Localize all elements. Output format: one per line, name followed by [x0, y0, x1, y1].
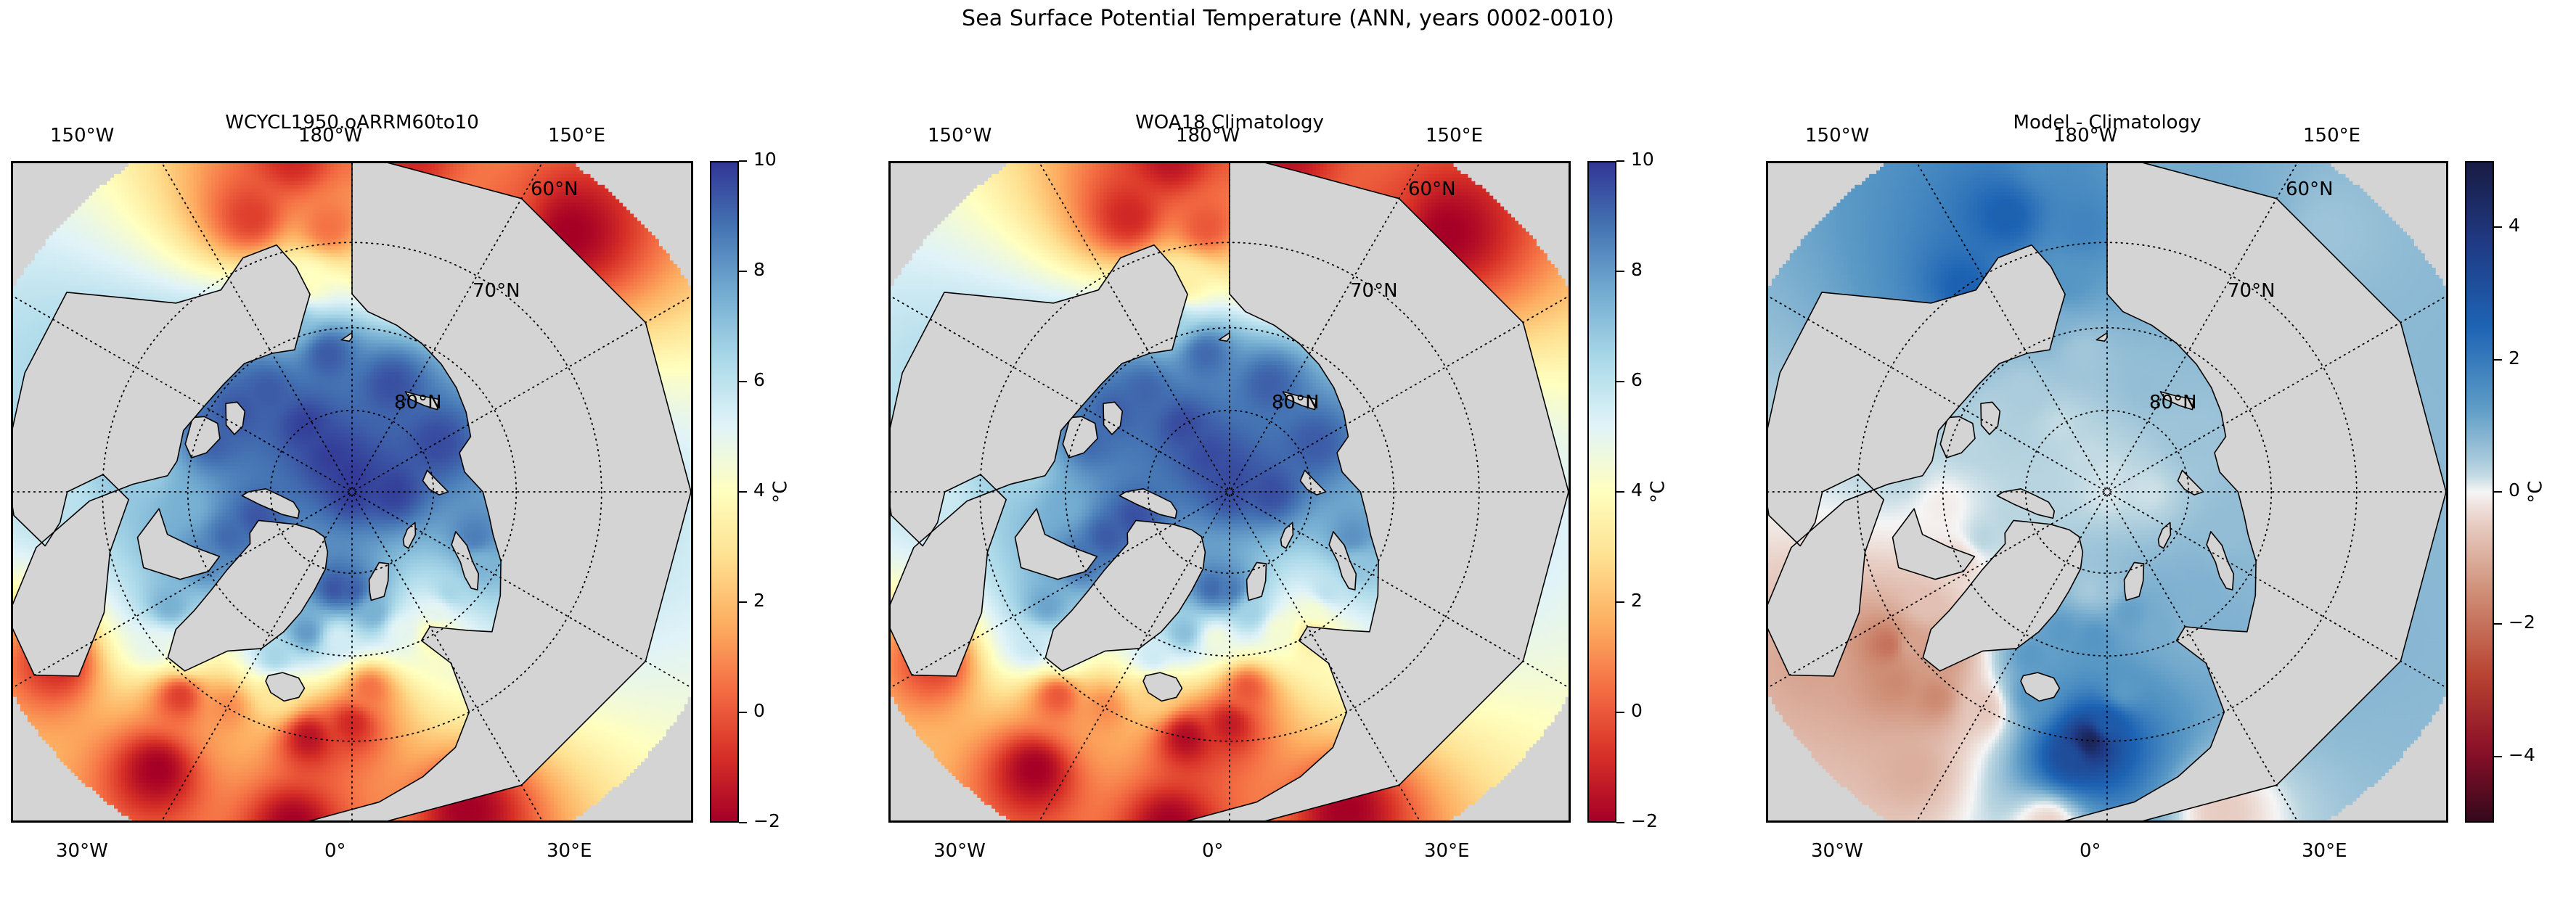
colorbar-tick-label: 6 [753, 369, 765, 390]
lon-label-30e-bot: 30°E [1424, 840, 1470, 862]
lon-label-30e-bot: 30°E [547, 840, 592, 862]
colorbar-tick-label: 0 [753, 700, 765, 721]
colorbar-tick-mark [2494, 226, 2502, 228]
colorbar-gradient-model [710, 161, 739, 823]
colorbar-tick-mark [1616, 822, 1624, 823]
lon-label-150e-top: 150°E [2303, 125, 2360, 147]
lon-label-150w-top: 150°W [928, 125, 991, 147]
colorbar-tick-label: 4 [1631, 480, 1643, 501]
panel-climatology: WOA18 Climatology 150°W 180°W 150°E 30°W… [888, 161, 1571, 823]
colorbar-tick-mark [1616, 491, 1624, 493]
map-climatology[interactable] [888, 161, 1571, 823]
colorbar-tick-mark [739, 601, 747, 603]
colorbar-tick-label: 6 [1631, 369, 1643, 390]
colorbar-tick-mark [2494, 756, 2502, 757]
colorbar-tick-label: 10 [1631, 149, 1654, 170]
lon-label-150e-top: 150°E [1426, 125, 1483, 147]
colorbar-tick-mark [1616, 712, 1624, 713]
colorbar-tick-mark [2494, 491, 2502, 493]
lon-label-180w-top: 180°W [2053, 125, 2117, 147]
colorbar-tick-mark [739, 712, 747, 713]
colorbar-tick-mark [739, 271, 747, 272]
lon-label-180w-top: 180°W [1176, 125, 1240, 147]
colorbar-tick-label: −4 [2508, 744, 2535, 765]
colorbar-tick-label: 8 [753, 259, 765, 280]
lon-label-0-bot: 0° [2080, 840, 2101, 862]
lon-label-0-bot: 0° [1202, 840, 1224, 862]
colorbar-tick-mark [1616, 271, 1624, 272]
map-model[interactable] [11, 161, 693, 823]
colorbar-tick-label: 0 [1631, 700, 1643, 721]
colorbar-tick-mark [2494, 623, 2502, 625]
colorbar-tick-label: 2 [753, 590, 765, 611]
lon-label-0-bot: 0° [324, 840, 346, 862]
colorbar-tick-mark [1616, 601, 1624, 603]
figure-root: Sea Surface Potential Temperature (ANN, … [0, 0, 2576, 901]
lon-label-150w-top: 150°W [50, 125, 114, 147]
colorbar-difference: −4−2024 °C [2465, 161, 2552, 823]
colorbar-label-difference: °C [2525, 480, 2547, 503]
figure-title: Sea Surface Potential Temperature (ANN, … [0, 6, 2576, 31]
lon-label-150w-top: 150°W [1805, 125, 1869, 147]
lon-label-30w-bot: 30°W [933, 840, 986, 862]
colorbar-tick-label: 2 [1631, 590, 1643, 611]
colorbar-tick-mark [1616, 381, 1624, 382]
lon-label-180w-top: 180°W [298, 125, 362, 147]
colorbar-climatology: −20246810 °C [1587, 161, 1675, 823]
colorbar-tick-label: 10 [753, 149, 777, 170]
colorbar-tick-mark [1616, 160, 1624, 162]
colorbar-tick-mark [739, 491, 747, 493]
panel-difference: Model - Climatology 150°W 180°W 150°E 30… [1766, 161, 2448, 823]
colorbar-tick-mark [739, 822, 747, 823]
colorbar-model: −20246810 °C [710, 161, 797, 823]
colorbar-tick-label: 4 [753, 480, 765, 501]
colorbar-tick-label: −2 [1631, 810, 1658, 831]
colorbar-tick-label: 0 [2508, 480, 2520, 501]
colorbar-tick-label: 8 [1631, 259, 1643, 280]
colorbar-tick-mark [739, 381, 747, 382]
lon-label-150e-top: 150°E [548, 125, 605, 147]
colorbar-tick-label: −2 [2508, 612, 2535, 633]
lon-label-30e-bot: 30°E [2302, 840, 2347, 862]
map-difference[interactable] [1766, 161, 2448, 823]
colorbar-tick-label: 2 [2508, 347, 2520, 369]
colorbar-tick-mark [2494, 359, 2502, 361]
panel-model: WCYCL1950.oARRM60to10 150°W 180°W 150°E … [11, 161, 693, 823]
colorbar-gradient-difference [2465, 161, 2494, 823]
colorbar-tick-mark [739, 160, 747, 162]
colorbar-label-model: °C [770, 480, 792, 503]
colorbar-label-climatology: °C [1648, 480, 1669, 503]
lon-label-30w-bot: 30°W [1811, 840, 1863, 862]
colorbar-tick-label: −2 [753, 810, 780, 831]
colorbar-gradient-climatology [1587, 161, 1616, 823]
lon-label-30w-bot: 30°W [56, 840, 108, 862]
colorbar-tick-label: 4 [2508, 215, 2520, 236]
